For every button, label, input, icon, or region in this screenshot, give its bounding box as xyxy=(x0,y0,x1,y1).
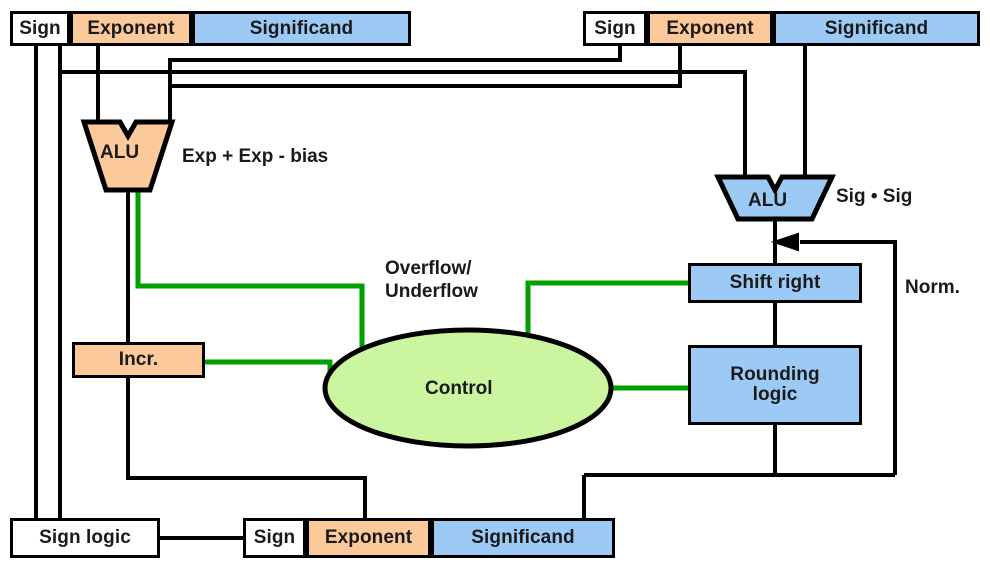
overflow-underflow-label-line1: Overflow/ xyxy=(385,258,472,280)
shift-right-block[interactable]: Shift right xyxy=(688,263,862,303)
control-ellipse-shape xyxy=(325,330,611,446)
normalize-label: Norm. xyxy=(905,277,960,299)
bottom-exponent-field[interactable]: Exponent xyxy=(306,518,431,558)
increment-block[interactable]: Incr. xyxy=(72,342,205,378)
overflow-underflow-label-line2: Underflow xyxy=(385,281,478,303)
rounding-logic-block[interactable]: Rounding logic xyxy=(688,345,862,425)
bottom-sign-field[interactable]: Sign xyxy=(243,518,306,558)
rounding-logic-label-line2: logic xyxy=(753,385,798,405)
top-right-exponent-field[interactable]: Exponent xyxy=(647,11,773,46)
exponent-alu-shape xyxy=(84,122,172,190)
top-left-exponent-field[interactable]: Exponent xyxy=(70,11,192,46)
exponent-alu-operation-label: Exp + Exp - bias xyxy=(182,146,328,168)
rounding-logic-label-line1: Rounding xyxy=(730,365,819,385)
significand-alu-operation-label: Sig • Sig xyxy=(836,186,912,208)
sign-logic-block[interactable]: Sign logic xyxy=(10,518,160,558)
top-left-significand-field[interactable]: Significand xyxy=(192,11,411,46)
top-right-sign-field[interactable]: Sign xyxy=(583,11,647,46)
top-right-significand-field[interactable]: Significand xyxy=(773,11,980,46)
top-left-sign-field[interactable]: Sign xyxy=(10,11,70,46)
significand-alu-shape xyxy=(718,177,832,219)
bottom-significand-field[interactable]: Significand xyxy=(431,518,615,558)
fp-multiply-datapath-diagram: ALU ALU Control Sign Exponent Significan… xyxy=(0,0,990,575)
